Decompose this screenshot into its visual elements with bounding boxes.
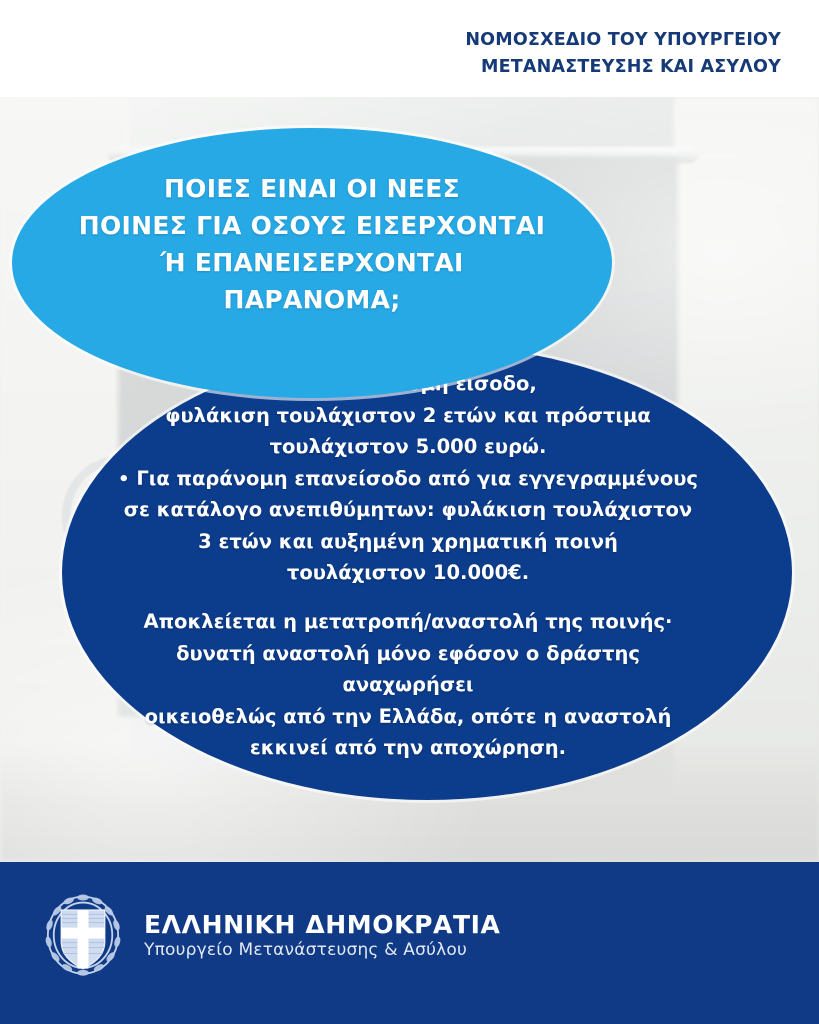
footer-subtitle: Υπουργείο Μετανάστευσης & Ασύλου xyxy=(144,941,500,961)
answer-paragraph-line-2: δυνατή αναστολή μόνο εφόσον ο δράστης αν… xyxy=(108,638,708,701)
question-line-4: ΠΑΡΑΝΟΜΑ; xyxy=(22,281,602,318)
answer-text: • Για παράνομη είσοδο, φυλάκιση τουλάχισ… xyxy=(108,368,708,764)
question-line-1: ΠΟΙΕΣ ΕΙΝΑΙ ΟΙ ΝΕΕΣ xyxy=(22,170,602,207)
answer-bullet-2-line-4: τουλάχιστον 10.000€. xyxy=(108,557,708,589)
footer-logo-block: ΕΛΛΗΝΙΚΗ ΔΗΜΟΚΡΑΤΙΑ Υπουργείο Μετανάστευ… xyxy=(40,890,500,982)
answer-paragraph-line-3: οικειοθελώς από την Ελλάδα, οπότε η ανασ… xyxy=(108,701,708,733)
answer-bullet-2-text-1: Για παράνομη επανείσοδο από για εγγεγραμ… xyxy=(136,467,698,490)
header-title-line-1: ΝΟΜΟΣΧΕΔΙΟ ΤΟΥ ΥΠΟΥΡΓΕΙΟΥ xyxy=(361,27,781,54)
footer-title: ΕΛΛΗΝΙΚΗ ΔΗΜΟΚΡΑΤΙΑ xyxy=(144,911,500,939)
answer-paragraph-line-1: Αποκλείεται η μετατροπή/αναστολή της ποι… xyxy=(108,606,708,638)
header-title-line-2: ΜΕΤΑΝΑΣΤΕΥΣΗΣ ΚΑΙ ΑΣΥΛΟΥ xyxy=(361,54,781,81)
question-line-2: ΠΟΙΝΕΣ ΓΙΑ ΟΣΟΥΣ ΕΙΣΕΡΧΟΝΤΑΙ xyxy=(22,207,602,244)
answer-bullet-2-line-1: • Για παράνομη επανείσοδο από για εγγεγρ… xyxy=(108,463,708,495)
greek-coat-of-arms-icon xyxy=(40,890,126,982)
infographic-page: ΝΟΜΟΣΧΕΔΙΟ ΤΟΥ ΥΠΟΥΡΓΕΙΟΥ ΜΕΤΑΝΑΣΤΕΥΣΗΣ … xyxy=(0,0,819,1024)
bullet-icon: • xyxy=(118,469,130,490)
header-band: ΝΟΜΟΣΧΕΔΙΟ ΤΟΥ ΥΠΟΥΡΓΕΙΟΥ ΜΕΤΑΝΑΣΤΕΥΣΗΣ … xyxy=(0,0,819,97)
footer-band: ΕΛΛΗΝΙΚΗ ΔΗΜΟΚΡΑΤΙΑ Υπουργείο Μετανάστευ… xyxy=(0,862,819,1024)
header-title: ΝΟΜΟΣΧΕΔΙΟ ΤΟΥ ΥΠΟΥΡΓΕΙΟΥ ΜΕΤΑΝΑΣΤΕΥΣΗΣ … xyxy=(361,27,781,80)
answer-bullet-2-line-3: 3 ετών και αυξημένη χρηματική ποινή xyxy=(108,526,708,558)
footer-text-block: ΕΛΛΗΝΙΚΗ ΔΗΜΟΚΡΑΤΙΑ Υπουργείο Μετανάστευ… xyxy=(144,911,500,961)
answer-bullet-2-line-2: σε κατάλογο ανεπιθύμητων: φυλάκιση τουλά… xyxy=(108,494,708,526)
question-line-3: Ή ΕΠΑΝΕΙΣΕΡΧΟΝΤΑΙ xyxy=(22,244,602,281)
question-text: ΠΟΙΕΣ ΕΙΝΑΙ ΟΙ ΝΕΕΣ ΠΟΙΝΕΣ ΓΙΑ ΟΣΟΥΣ ΕΙΣ… xyxy=(22,170,602,318)
answer-bullet-1-line-2: φυλάκιση τουλάχιστον 2 ετών και πρόστιμα xyxy=(108,400,708,432)
answer-paragraph-line-4: εκκινεί από την αποχώρηση. xyxy=(108,732,708,764)
answer-bullet-1-line-3: τουλάχιστον 5.000 ευρώ. xyxy=(108,431,708,463)
